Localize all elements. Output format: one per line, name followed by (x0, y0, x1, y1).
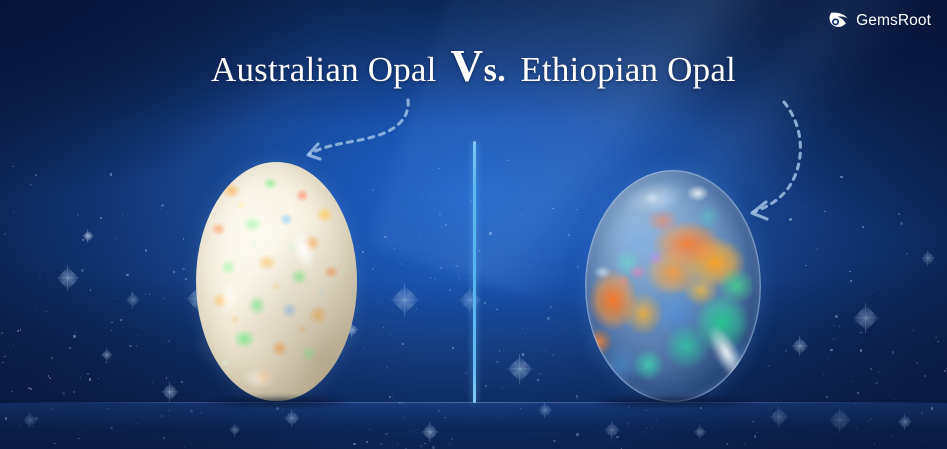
australian-opal-shading (196, 162, 357, 401)
australian-opal-contact-shadow (206, 396, 348, 408)
opal-comparison-banner: GemsRoot Australian OpalVs.Ethiopian Opa… (0, 0, 947, 449)
vertical-divider (473, 141, 476, 403)
floor-reflection-glow (0, 403, 947, 449)
gemsroot-logo-text: GemsRoot (856, 12, 931, 30)
title-vs-suffix: s. (484, 52, 507, 89)
title-vs-capital: V (451, 41, 484, 91)
title-vs-label: Vs. (451, 41, 507, 91)
banner-title: Australian OpalVs.Ethiopian Opal (0, 40, 947, 92)
title-left-term: Australian Opal (211, 50, 437, 89)
arrow-to-australian-opal-icon (284, 96, 424, 180)
gemsroot-leaf-mark-icon (829, 10, 850, 31)
title-right-term: Ethiopian Opal (520, 50, 736, 89)
ethiopian-opal-contact-shadow (594, 396, 752, 408)
australian-opal-image (196, 162, 357, 401)
arrow-to-ethiopian-opal-icon (726, 98, 834, 228)
gemsroot-logo[interactable]: GemsRoot (829, 10, 931, 31)
